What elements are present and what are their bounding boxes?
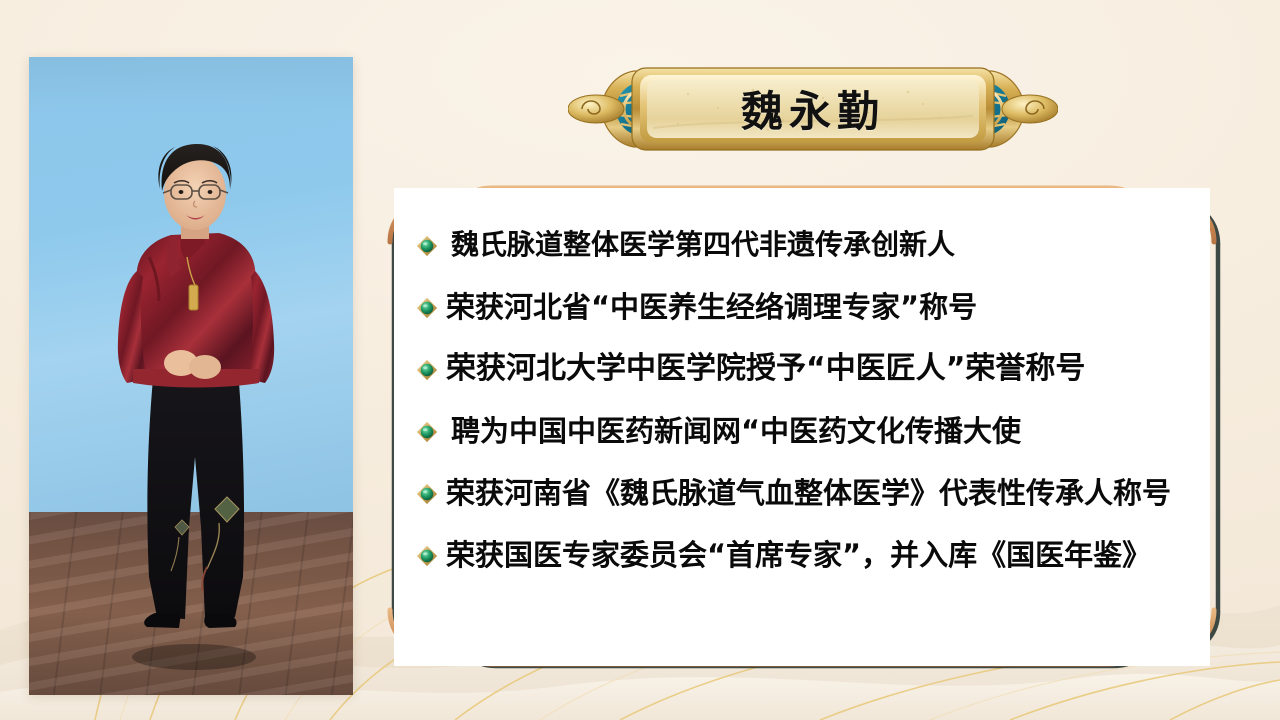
plaque-banner: 魏永勤 <box>568 58 1058 160</box>
green-gem-bullet-icon <box>416 483 438 505</box>
list-item: 聘为中国中医药新闻网“中医药文化传播大使 <box>416 408 1194 454</box>
list-item: 荣获河南省《魏氏脉道气血整体医学》代表性传承人称号 <box>416 470 1194 516</box>
card-white-panel: 魏氏脉道整体医学第四代非遗传承创新人 荣获河北省“中医养生经络调理专家”称号 荣… <box>394 188 1210 666</box>
list-item: 荣获国医专家委员会“首席专家”，并入库《国医年鉴》 <box>416 532 1194 578</box>
portrait-photo <box>29 57 353 695</box>
green-gem-bullet-icon <box>416 545 438 567</box>
green-gem-bullet-icon <box>416 421 438 443</box>
credentials-list: 魏氏脉道整体医学第四代非遗传承创新人 荣获河北省“中医养生经络调理专家”称号 荣… <box>394 188 1210 666</box>
list-item-label: 荣获国医专家委员会“首席专家”，并入库《国医年鉴》 <box>446 539 1151 571</box>
list-item: 荣获河北省“中医养生经络调理专家”称号 <box>416 284 1194 330</box>
green-gem-bullet-icon <box>416 359 438 381</box>
credentials-card: 魏氏脉道整体医学第四代非遗传承创新人 荣获河北省“中医养生经络调理专家”称号 荣… <box>372 172 1232 684</box>
list-item-label: 聘为中国中医药新闻网“中医药文化传播大使 <box>451 415 1021 447</box>
list-item-label: 荣获河南省《魏氏脉道气血整体医学》代表性传承人称号 <box>446 477 1171 509</box>
list-item-label: 荣获河北省“中医养生经络调理专家”称号 <box>446 291 977 323</box>
list-item-label: 荣获河北大学中医学院授予“中医匠人”荣誉称号 <box>446 352 1085 386</box>
green-gem-bullet-icon <box>416 235 438 257</box>
list-item: 魏氏脉道整体医学第四代非遗传承创新人 <box>416 222 1194 268</box>
list-item-label: 魏氏脉道整体医学第四代非遗传承创新人 <box>451 229 955 260</box>
green-gem-bullet-icon <box>416 297 438 319</box>
list-item: 荣获河北大学中医学院授予“中医匠人”荣誉称号 <box>416 346 1194 392</box>
plaque-title: 魏永勤 <box>568 58 1058 160</box>
portrait-figure <box>29 57 353 695</box>
